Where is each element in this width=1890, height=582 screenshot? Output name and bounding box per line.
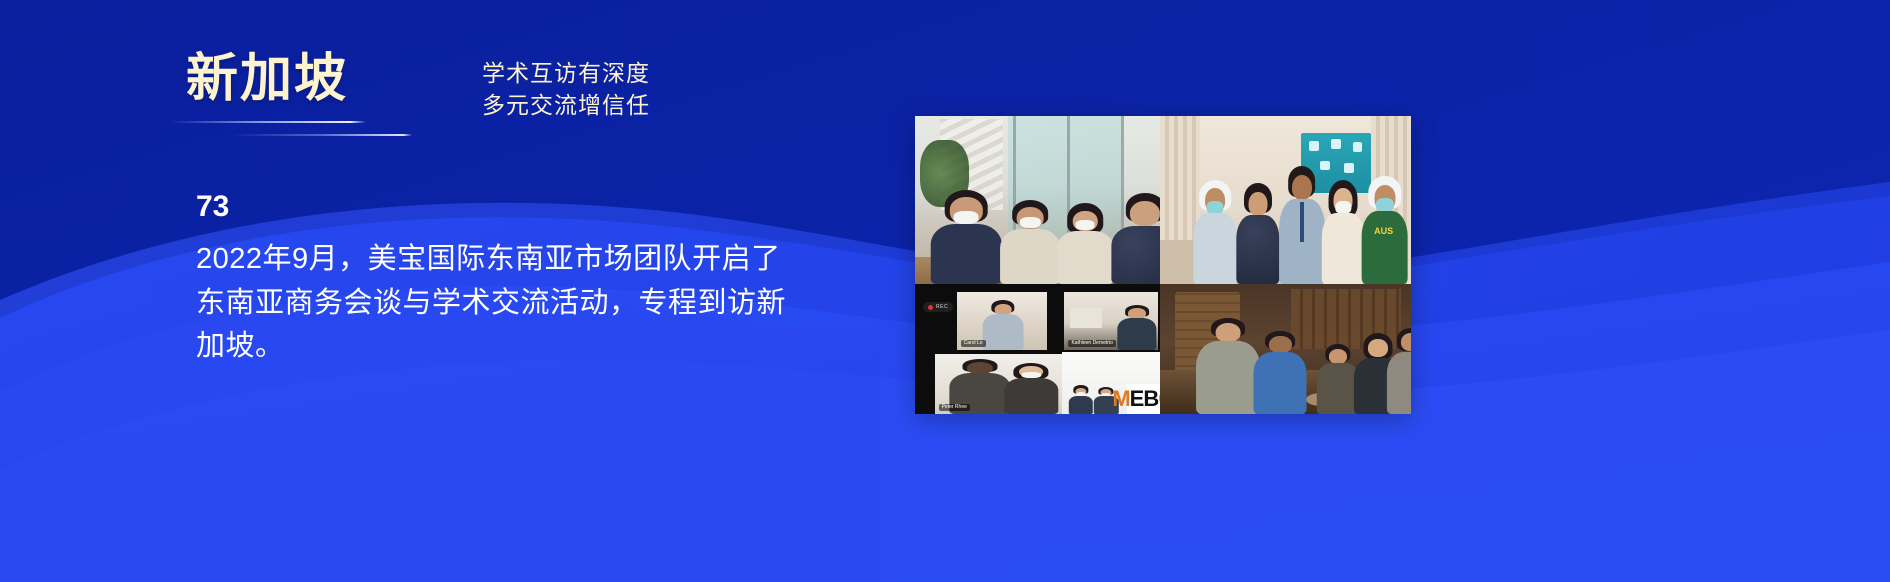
video-conference-photo: REC Carol Lo — [915, 284, 1160, 414]
record-dot-icon — [928, 305, 933, 310]
mebo-logo: MEBO — [1127, 384, 1160, 414]
participant-name-3: Peter Rhee — [939, 404, 970, 411]
video-tile-participant-1[interactable]: Carol Lo — [957, 292, 1048, 351]
item-number: 73 — [196, 192, 856, 222]
subtitle-line-1: 学术互访有深度 — [482, 58, 742, 90]
video-tile-participant-2[interactable]: Kathleen Demetrio — [1064, 292, 1157, 351]
title-underline-primary — [170, 121, 366, 123]
mebo-logo-text: MEBO — [1112, 388, 1160, 410]
video-tile-participant-3[interactable]: Peter Rhee — [935, 354, 1077, 414]
body-line-3: 加坡。 — [196, 325, 856, 369]
body-paragraph: 2022年9月，美宝国际东南亚市场团队开启了 东南亚商务会谈与学术交流活动，专程… — [196, 238, 856, 369]
subtitle-block: 学术互访有深度 多元交流增信任 — [482, 58, 742, 121]
dinner-group-photo — [1160, 284, 1411, 414]
content-block: 73 2022年9月，美宝国际东南亚市场团队开启了 东南亚商务会谈与学术交流活动… — [196, 192, 856, 369]
photo-collage: AUS REC Carol Lo — [915, 116, 1411, 414]
title-underline-secondary — [232, 134, 412, 136]
body-line-1: 2022年9月，美宝国际东南亚市场团队开启了 — [196, 238, 856, 282]
recording-label: REC — [936, 304, 948, 310]
participant-name-1: Carol Lo — [961, 340, 986, 347]
video-tile-participants-group[interactable]: MEBO — [1062, 352, 1160, 414]
recording-indicator: REC — [923, 302, 953, 312]
slide-root: 新加坡 学术互访有深度 多元交流增信任 73 2022年9月，美宝国际东南亚市场… — [0, 0, 1890, 582]
body-line-2: 东南亚商务会谈与学术交流活动，专程到访新 — [196, 282, 856, 326]
cafe-meeting-photo — [915, 116, 1160, 284]
participant-name-2: Kathleen Demetrio — [1068, 340, 1115, 347]
subtitle-line-2: 多元交流增信任 — [482, 90, 742, 122]
clinic-group-photo: AUS — [1160, 116, 1411, 284]
